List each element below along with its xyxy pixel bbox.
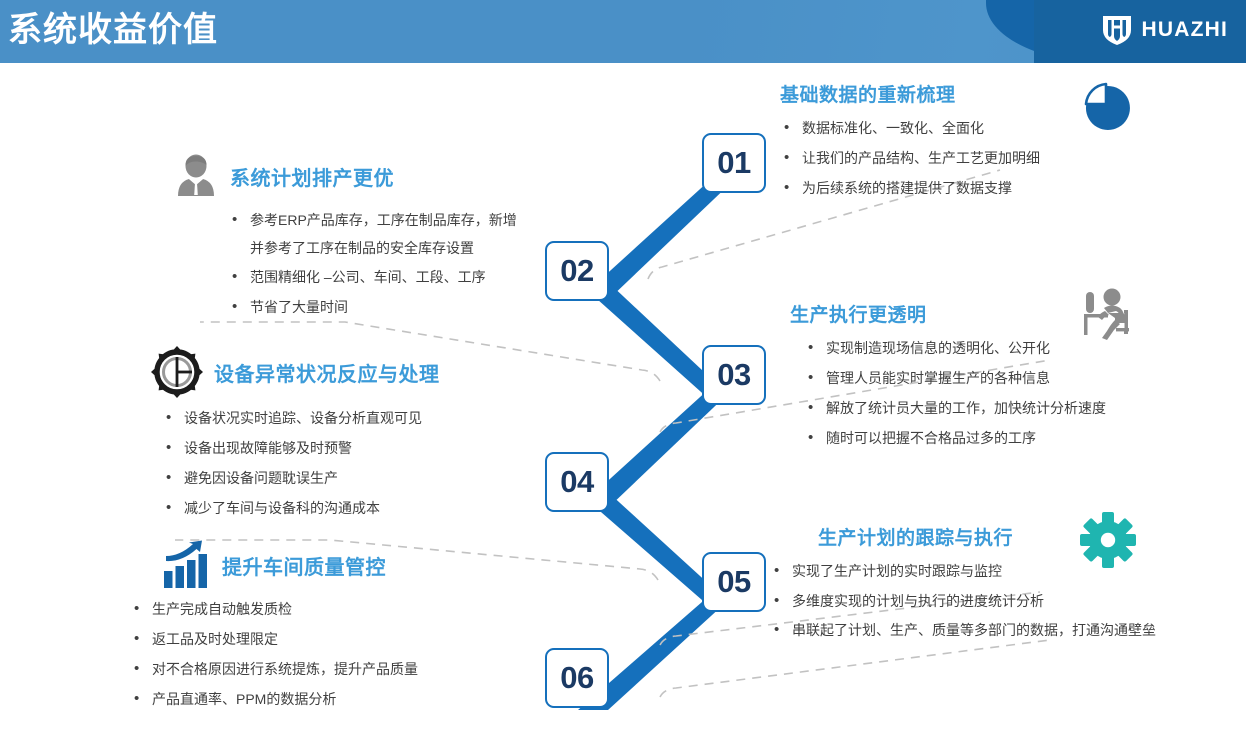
gear-dark-icon <box>150 345 204 399</box>
list-item: 数据标准化、一致化、全面化 <box>780 113 1040 143</box>
list-item: 生产完成自动触发质检 <box>130 594 418 624</box>
person-at-desk-icon <box>1078 286 1140 342</box>
pie-chart-icon <box>1078 78 1138 134</box>
block-basic-data-header: 基础数据的重新梳理 <box>780 80 1040 107</box>
list-item: 设备状况实时追踪、设备分析直观可见 <box>162 403 440 433</box>
step-number-02[interactable]: 02 <box>545 241 609 301</box>
block-equipment-abnormal-title: 设备异常状况反应与处理 <box>214 358 440 387</box>
block-quality-control: 提升车间质量管控 生产完成自动触发质检 返工品及时处理限定 对不合格原因进行系统… <box>160 540 418 714</box>
bar-chart-growth-icon <box>160 540 212 590</box>
block-production-exec: 生产执行更透明 实现制造现场信息的透明化、公开化 管理人员能实时掌握生产的各种信… <box>790 300 1106 453</box>
block-equipment-abnormal: 设备异常状况反应与处理 设备状况实时追踪、设备分析直观可见 设备出现故障能够及时… <box>150 345 440 523</box>
list-item: 设备出现故障能够及时预警 <box>162 433 440 463</box>
step-number-01[interactable]: 01 <box>702 133 766 193</box>
list-item: 避免因设备问题耽误生产 <box>162 463 440 493</box>
block-plan-track-list: 实现了生产计划的实时跟踪与监控 多维度实现的计划与执行的进度统计分析 串联起了计… <box>770 556 1190 644</box>
list-item: 产品直通率、PPM的数据分析 <box>130 684 418 714</box>
list-item: 减少了车间与设备科的沟通成本 <box>162 493 440 523</box>
list-item: 串联起了计划、生产、质量等多部门的数据，打通沟通壁垒 <box>770 616 1190 644</box>
step-number-03[interactable]: 03 <box>702 345 766 405</box>
list-item: 返工品及时处理限定 <box>130 624 418 654</box>
block-system-plan-title: 系统计划排产更优 <box>230 162 394 191</box>
list-item: 实现制造现场信息的透明化、公开化 <box>804 333 1106 363</box>
step-number-06[interactable]: 06 <box>545 648 609 708</box>
list-item: 随时可以把握不合格品过多的工序 <box>804 423 1106 453</box>
block-equipment-abnormal-list: 设备状况实时追踪、设备分析直观可见 设备出现故障能够及时预警 避免因设备问题耽误… <box>162 403 440 523</box>
block-production-exec-title: 生产执行更透明 <box>790 300 927 327</box>
block-system-plan-list: 参考ERP产品库存，工序在制品库存，新增并参考了工序在制品的安全库存设置 范围精… <box>228 206 528 322</box>
gear-teal-icon <box>1080 512 1136 568</box>
list-item: 对不合格原因进行系统提炼，提升产品质量 <box>130 654 418 684</box>
block-production-exec-header: 生产执行更透明 <box>790 300 1106 327</box>
block-basic-data: 基础数据的重新梳理 数据标准化、一致化、全面化 让我们的产品结构、生产工艺更加明… <box>780 80 1040 203</box>
block-basic-data-title: 基础数据的重新梳理 <box>780 80 956 107</box>
list-item: 范围精细化 –公司、车间、工段、工序 <box>228 262 528 292</box>
block-basic-data-list: 数据标准化、一致化、全面化 让我们的产品结构、生产工艺更加明细 为后续系统的搭建… <box>780 113 1040 203</box>
list-item: 解放了统计员大量的工作，加快统计分析速度 <box>804 393 1106 423</box>
block-system-plan-header: 系统计划排产更优 <box>172 152 528 200</box>
step-number-04[interactable]: 04 <box>545 452 609 512</box>
list-item: 管理人员能实时掌握生产的各种信息 <box>804 363 1106 393</box>
brand-name: HUAZHI <box>1141 18 1228 42</box>
list-item: 为后续系统的搭建提供了数据支撑 <box>780 173 1040 203</box>
block-equipment-abnormal-header: 设备异常状况反应与处理 <box>150 345 440 399</box>
slide-root: 系统收益价值 HUAZHI <box>0 0 1246 729</box>
brand-logo-group: HUAZHI <box>1100 14 1228 46</box>
step-number-05[interactable]: 05 <box>702 552 766 612</box>
list-item: 节省了大量时间 <box>228 292 528 322</box>
block-quality-control-header: 提升车间质量管控 <box>160 540 418 590</box>
page-title: 系统收益价值 <box>8 5 218 55</box>
block-system-plan: 系统计划排产更优 参考ERP产品库存，工序在制品库存，新增并参考了工序在制品的安… <box>172 152 528 322</box>
businessman-icon <box>172 152 220 200</box>
huazhi-shield-logo-icon <box>1100 14 1134 46</box>
list-item: 让我们的产品结构、生产工艺更加明细 <box>780 143 1040 173</box>
block-quality-control-title: 提升车间质量管控 <box>222 551 386 580</box>
block-quality-control-list: 生产完成自动触发质检 返工品及时处理限定 对不合格原因进行系统提炼，提升产品质量… <box>130 594 418 714</box>
block-plan-track-title: 生产计划的跟踪与执行 <box>818 523 1013 550</box>
slide-header: 系统收益价值 HUAZHI <box>0 0 1246 63</box>
list-item: 参考ERP产品库存，工序在制品库存，新增并参考了工序在制品的安全库存设置 <box>228 206 528 262</box>
block-production-exec-list: 实现制造现场信息的透明化、公开化 管理人员能实时掌握生产的各种信息 解放了统计员… <box>804 333 1106 453</box>
list-item: 多维度实现的计划与执行的进度统计分析 <box>770 586 1190 616</box>
